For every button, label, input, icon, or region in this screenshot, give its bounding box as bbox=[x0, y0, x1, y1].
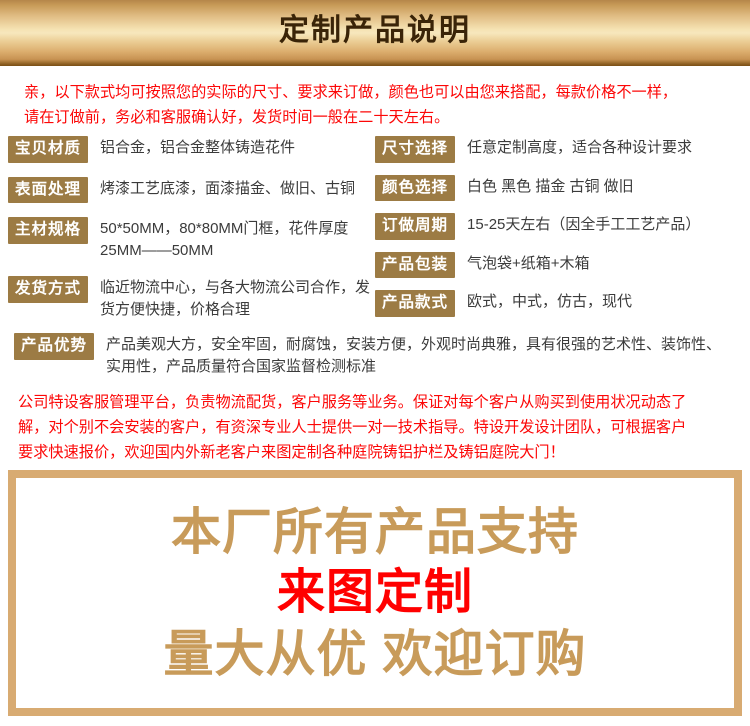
spec-row: 主材规格 50*50MM，80*80MM门框，花件厚度 25MM——50MM bbox=[8, 217, 375, 262]
promo-banner: 本厂所有产品支持 来图定制 量大从优 欢迎订购 bbox=[8, 470, 742, 716]
spec-row: 颜色选择 白色 黑色 描金 古铜 做旧 bbox=[375, 175, 744, 202]
service-note-line-3: 要求快速报价，欢迎国内外新老客户来图定制各种庭院铸铝护栏及铸铝庭院大门！ bbox=[18, 440, 732, 465]
spec-label-shipping-method: 发货方式 bbox=[8, 276, 88, 303]
spec-value-lead-time: 15-25天左右（因全手工工艺产品） bbox=[455, 213, 744, 236]
spec-value-product-style: 欧式，中式，仿古，现代 bbox=[455, 290, 744, 313]
spec-label-lead-time: 订做周期 bbox=[375, 213, 455, 240]
spec-label-product-style: 产品款式 bbox=[375, 290, 455, 317]
promo-line-custom-from-image: 来图定制 bbox=[277, 567, 473, 619]
service-note: 公司特设客服管理平台，负责物流配货，客户服务等业务。保证对每个客户从购买到使用状… bbox=[0, 378, 750, 465]
specifications-left-column: 宝贝材质 铝合金，铝合金整体铸造花件 表面处理 烤漆工艺底漆，面漆描金、做旧、古… bbox=[6, 136, 375, 335]
intro-note: 亲，以下款式均可按照您的实际的尺寸、要求来订做，颜色也可以由您来搭配，每款价格不… bbox=[0, 66, 750, 136]
spec-row: 尺寸选择 任意定制高度，适合各种设计要求 bbox=[375, 136, 744, 163]
spec-label-main-dimensions: 主材规格 bbox=[8, 217, 88, 244]
promo-line-support: 本厂所有产品支持 bbox=[171, 505, 579, 559]
service-note-line-2: 解，对个别不会安装的客户，有资深专业人士提供一对一技术指导。特设开发设计团队，可… bbox=[18, 415, 732, 440]
spec-value-shipping-method: 临近物流中心，与各大物流公司合作，发货方便快捷，价格合理 bbox=[88, 276, 375, 321]
service-note-line-1: 公司特设客服管理平台，负责物流配货，客户服务等业务。保证对每个客户从购买到使用状… bbox=[18, 390, 732, 415]
spec-value-surface-treatment: 烤漆工艺底漆，面漆描金、做旧、古铜 bbox=[88, 177, 375, 200]
spec-label-packaging: 产品包装 bbox=[375, 252, 455, 279]
spec-value-color-options: 白色 黑色 描金 古铜 做旧 bbox=[455, 175, 744, 198]
spec-row: 发货方式 临近物流中心，与各大物流公司合作，发货方便快捷，价格合理 bbox=[8, 276, 375, 321]
intro-note-line-2: 请在订做前，务必和客服确认好，发货时间一般在二十天左右。 bbox=[24, 105, 726, 130]
spec-row: 宝贝材质 铝合金，铝合金整体铸造花件 bbox=[8, 136, 375, 163]
specifications-section: 宝贝材质 铝合金，铝合金整体铸造花件 表面处理 烤漆工艺底漆，面漆描金、做旧、古… bbox=[0, 136, 750, 378]
promo-line-bulk-discount: 量大从优 欢迎订购 bbox=[164, 627, 587, 681]
spec-label-color-options: 颜色选择 bbox=[375, 175, 455, 202]
spec-row: 表面处理 烤漆工艺底漆，面漆描金、做旧、古铜 bbox=[8, 177, 375, 204]
page-title: 定制产品说明 bbox=[279, 16, 471, 46]
spec-label-size-options: 尺寸选择 bbox=[375, 136, 455, 163]
spec-label-material: 宝贝材质 bbox=[8, 136, 88, 163]
specifications-columns: 宝贝材质 铝合金，铝合金整体铸造花件 表面处理 烤漆工艺底漆，面漆描金、做旧、古… bbox=[6, 136, 744, 335]
spec-value-size-options: 任意定制高度，适合各种设计要求 bbox=[455, 136, 744, 159]
spec-label-surface-treatment: 表面处理 bbox=[8, 177, 88, 204]
spec-row: 订做周期 15-25天左右（因全手工工艺产品） bbox=[375, 213, 744, 240]
spec-label-advantages: 产品优势 bbox=[14, 333, 94, 360]
page-header-banner: 定制产品说明 bbox=[0, 0, 750, 66]
spec-row-advantages: 产品优势 产品美观大方，安全牢固，耐腐蚀，安装方便，外观时尚典雅，具有很强的艺术… bbox=[6, 333, 744, 378]
spec-value-advantages: 产品美观大方，安全牢固，耐腐蚀，安装方便，外观时尚典雅，具有很强的艺术性、装饰性… bbox=[94, 333, 738, 378]
specifications-right-column: 尺寸选择 任意定制高度，适合各种设计要求 颜色选择 白色 黑色 描金 古铜 做旧… bbox=[375, 136, 744, 335]
intro-note-line-1: 亲，以下款式均可按照您的实际的尺寸、要求来订做，颜色也可以由您来搭配，每款价格不… bbox=[24, 80, 726, 105]
spec-value-packaging: 气泡袋+纸箱+木箱 bbox=[455, 252, 744, 275]
spec-row: 产品款式 欧式，中式，仿古，现代 bbox=[375, 290, 744, 317]
spec-value-material: 铝合金，铝合金整体铸造花件 bbox=[88, 136, 375, 159]
spec-value-main-dimensions: 50*50MM，80*80MM门框，花件厚度 25MM——50MM bbox=[88, 217, 375, 262]
spec-row: 产品包装 气泡袋+纸箱+木箱 bbox=[375, 252, 744, 279]
